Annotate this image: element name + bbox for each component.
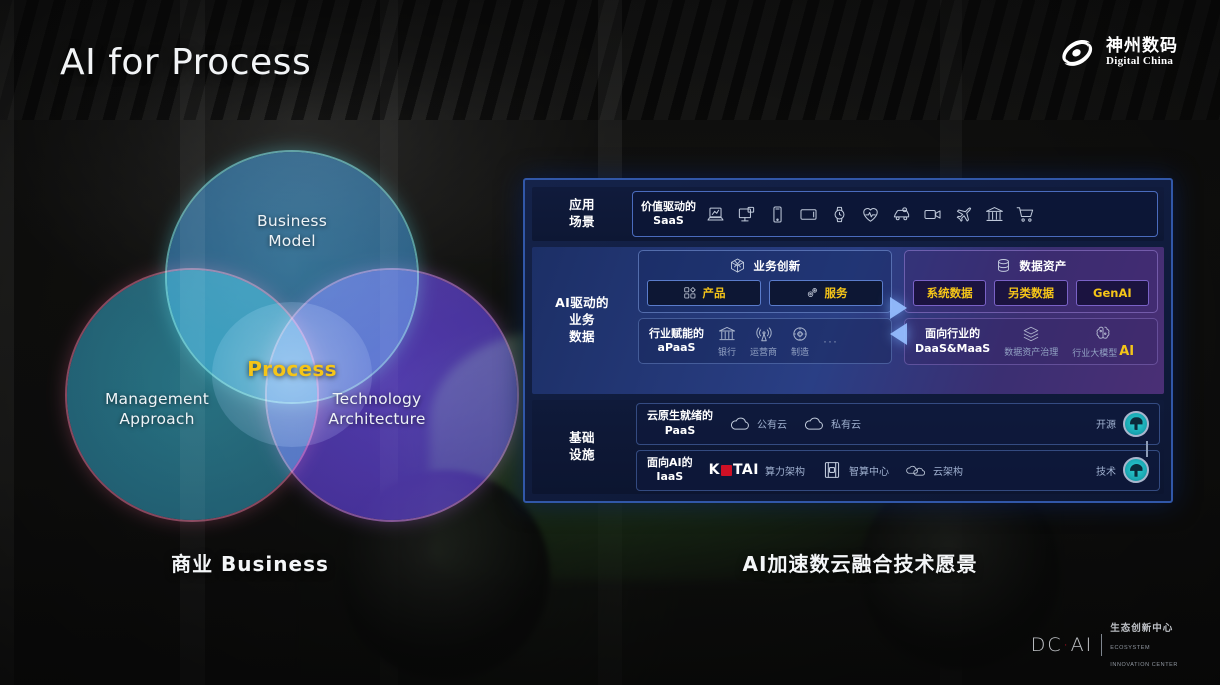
chip-product-label: 产品 [703,285,726,301]
iaas-tail: 技术 [1096,457,1149,483]
mini-carrier[interactable]: 运营商 [750,325,777,358]
mini-industry-llm[interactable]: 行业大模型 AI [1072,324,1134,359]
multi-cloud-label: 云架构 [933,463,963,478]
laptop-chart-icon[interactable] [706,205,725,224]
ai-columns: 业务创新 产品 服务 [632,247,1164,394]
data-assets-title: 数据资产 [1019,258,1066,274]
band-label-line2: 设施 [569,447,595,464]
footer-subtitle: 生态创新中心 ECOSYSTEM INNOVATION CENTER [1110,618,1178,671]
mini-data-governance-label: 数据资产治理 [1004,345,1058,358]
business-innovation-card[interactable]: 业务创新 产品 服务 [638,250,892,313]
spiral-logo-icon [1057,36,1097,70]
footer-subtitle-en2: INNOVATION CENTER [1110,662,1178,668]
band-label-line2: 业务 [555,312,609,329]
band-label-line1: AI驱动的 [555,295,609,312]
mini-bank[interactable]: 银行 [718,325,736,358]
application-icon-row [706,205,1149,224]
apaas-row[interactable]: 行业赋能的 aPaaS 银行 运营商 制造 [638,318,892,364]
brand-text: 神州数码 Digital China [1106,38,1178,67]
venn-label-line1: Management [77,390,237,410]
bank-icon [718,325,736,343]
footer-logo: DC·AI 生态创新中心 ECOSYSTEM INNOVATION CENTER [1031,618,1178,671]
venn-label-technology-architecture: Technology Architecture [297,390,457,430]
slide-root: AI for Process 神州数码 Digital China Busine… [0,0,1220,685]
ai-datacenter-item[interactable]: 智算中心 [821,461,889,479]
mini-industry-llm-label: 行业大模型 [1072,346,1117,359]
band-label-ai-data: AI驱动的 业务 数据 [532,247,632,394]
venn-label-line2: Model [227,232,357,252]
caption-architecture: AI加速数云融合技术愿景 [640,548,1080,577]
footer-subtitle-cn: 生态创新中心 [1110,623,1173,634]
apaas-ellipsis: ··· [823,334,838,348]
layers-stack-icon [1022,325,1040,343]
database-icon [995,257,1012,274]
mini-industry-llm-ai: AI [1119,344,1134,359]
technology-label: 技术 [1096,463,1116,478]
manufacturing-gear-icon [791,325,809,343]
apaas-title: 行业赋能的 aPaaS [649,327,704,356]
band-label-line1: 应用 [569,197,595,214]
car-icon[interactable] [892,205,911,224]
chip-product[interactable]: 产品 [647,280,761,306]
tail-connector [1146,441,1148,457]
page-title: AI for Process [60,42,311,83]
ai-datacenter-label: 智算中心 [849,463,889,478]
private-cloud-label: 私有云 [831,416,861,431]
desktop-monitor-icon[interactable] [737,205,756,224]
venn-label-management-approach: Management Approach [77,390,237,430]
data-assets-card[interactable]: 数据资产 系统数据 另类数据 GenAI [904,250,1158,313]
band-body-application: 价值驱动的 SaaS [632,187,1164,241]
paas-title-line1: 云原生就绪的 [647,409,713,423]
opensource-glyph [1130,417,1143,430]
kutai-label: 算力架构 [765,463,805,478]
chip-service[interactable]: 服务 [769,280,883,306]
mini-manufacturing-label: 制造 [791,345,809,358]
brain-circuit-icon [1094,324,1112,342]
smartwatch-icon[interactable] [830,205,849,224]
kutai-logo: K TAI [709,462,759,478]
opensource-circle-icon[interactable] [1123,411,1149,437]
saas-subbox[interactable]: 价值驱动的 SaaS [632,191,1158,237]
saas-title-line1: 价值驱动的 [641,200,696,214]
opensource-circle-icon[interactable] [1123,457,1149,483]
chip-alternative-data[interactable]: 另类数据 [994,280,1067,306]
infrastructure-rows: 云原生就绪的 PaaS 公有云 私有云 开源 [632,400,1164,494]
architecture-panel: 应用 场景 价值驱动的 SaaS [523,178,1173,503]
tablet-icon[interactable] [799,205,818,224]
business-innovation-title: 业务创新 [753,258,800,274]
video-camera-icon[interactable] [923,205,942,224]
chip-genai[interactable]: GenAI [1076,280,1149,306]
band-label-application: 应用 场景 [532,187,632,241]
caption-business: 商业 Business [80,548,420,577]
mini-data-governance[interactable]: 数据资产治理 [1004,325,1058,358]
cloud-filled-icon [729,415,751,433]
band-ai-driven-business-data: AI驱动的 业务 数据 业务创新 [532,247,1164,394]
venn-diagram: Business Model Management Approach Techn… [62,152,462,522]
ai-column-business-innovation: 业务创新 产品 服务 [632,247,898,394]
airplane-icon[interactable] [954,205,973,224]
iaas-row[interactable]: 面向AI的 IaaS K TAI 算力架构 智算中心 [636,450,1160,492]
bank-icon[interactable] [985,205,1004,224]
band-label-line2: 场景 [569,214,595,231]
iaas-title-line2: IaaS [647,470,693,484]
kutai-logo-square [721,465,732,476]
opensource-glyph [1130,464,1143,477]
mini-manufacturing[interactable]: 制造 [791,325,809,358]
daas-maas-title-line1: 面向行业的 [915,327,990,341]
brand-name-en: Digital China [1106,56,1178,68]
gears-icon [805,286,819,300]
venn-label-line1: Technology [297,390,457,410]
venn-label-line1: Business [227,212,357,232]
brand-name-cn: 神州数码 [1106,38,1178,56]
ai-datacenter-icon [821,461,843,479]
cube-network-icon [729,257,746,274]
footer-dot: · [1063,634,1071,656]
opensource-label: 开源 [1096,416,1116,431]
band-infrastructure: 基础 设施 云原生就绪的 PaaS 公有云 私有云 [532,400,1164,494]
footer-dc: DC [1031,634,1063,656]
data-assets-chips: 系统数据 另类数据 GenAI [913,280,1149,306]
chip-service-label: 服务 [825,285,848,301]
business-innovation-chips: 产品 服务 [647,280,883,306]
kutai-logo-left: K [709,462,720,478]
kutai-item[interactable]: K TAI 算力架构 [709,462,805,478]
chip-system-data-label: 系统数据 [927,285,973,301]
public-cloud-label: 公有云 [757,416,787,431]
opensource-label-wrap: 开源 [1096,416,1116,431]
iaas-title: 面向AI的 IaaS [647,456,693,485]
iaas-title-line1: 面向AI的 [647,456,693,470]
daas-maas-title-line2: DaaS&MaaS [915,342,990,356]
paas-title: 云原生就绪的 PaaS [647,409,713,438]
daas-maas-row[interactable]: 面向行业的 DaaS&MaaS 数据资产治理 行业大模型 AI [904,318,1158,365]
brand-logo: 神州数码 Digital China [1057,36,1178,70]
footer-subtitle-en1: ECOSYSTEM [1110,645,1150,651]
public-cloud-item[interactable]: 公有云 [729,415,787,433]
chip-alternative-data-label: 另类数据 [1008,285,1054,301]
cloud-outline-icon [803,415,825,433]
paas-title-line2: PaaS [647,424,713,438]
band-label-infrastructure: 基础 设施 [532,400,632,494]
private-cloud-item[interactable]: 私有云 [803,415,861,433]
smartphone-icon[interactable] [768,205,787,224]
kutai-logo-right: TAI [733,462,759,478]
daas-maas-title: 面向行业的 DaaS&MaaS [915,327,990,356]
chip-genai-label: GenAI [1093,286,1132,300]
shopping-cart-icon[interactable] [1016,205,1035,224]
band-label-line3: 数据 [555,329,609,346]
footer-wordmark: DC·AI [1031,634,1094,656]
apaas-title-line2: aPaaS [649,341,704,355]
multi-cloud-item[interactable]: 云架构 [905,461,963,479]
band-application-scenarios: 应用 场景 价值驱动的 SaaS [532,187,1164,241]
multi-cloud-icon [905,461,927,479]
footer-ai: AI [1071,634,1094,656]
chip-system-data[interactable]: 系统数据 [913,280,986,306]
apaas-title-line1: 行业赋能的 [649,327,704,341]
venn-label-line2: Architecture [297,410,457,430]
business-innovation-header: 业务创新 [729,257,800,274]
signal-tower-icon [755,325,773,343]
blocks-icon [683,286,697,300]
data-assets-header: 数据资产 [995,257,1066,274]
footer-divider [1101,634,1102,656]
venn-label-business-model: Business Model [227,212,357,252]
venn-center-label: Process [212,357,372,381]
ai-column-data-assets: 数据资产 系统数据 另类数据 GenAI [898,247,1164,394]
saas-title-line2: SaaS [641,214,696,228]
band-label-line1: 基础 [569,430,595,447]
paas-tail: 开源 [1096,411,1149,437]
technology-label-wrap: 技术 [1096,463,1116,478]
mini-carrier-label: 运营商 [750,345,777,358]
heartbeat-icon[interactable] [861,205,880,224]
venn-label-line2: Approach [77,410,237,430]
mini-bank-label: 银行 [718,345,736,358]
paas-row[interactable]: 云原生就绪的 PaaS 公有云 私有云 开源 [636,403,1160,445]
saas-title: 价值驱动的 SaaS [641,200,696,229]
